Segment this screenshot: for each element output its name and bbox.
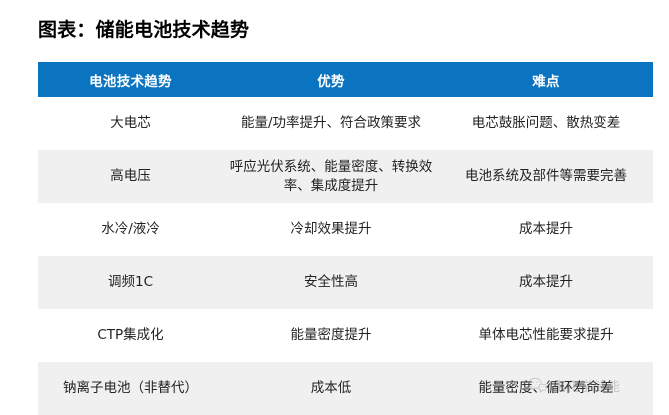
cell-trend: 大电芯 xyxy=(38,97,223,150)
cell-advantage: 能量密度提升 xyxy=(223,309,439,362)
page-title: 图表：储能电池技术趋势 xyxy=(38,17,249,43)
table-row: 调频1C 安全性高 成本提升 xyxy=(38,256,653,309)
cell-difficulty: 成本提升 xyxy=(439,256,653,309)
cell-trend: 高电压 xyxy=(38,150,223,203)
cell-advantage: 能量/功率提升、符合政策要求 xyxy=(223,97,439,150)
table-row: 高电压 呼应光伏系统、能量密度、转换效率、集成度提升 电池系统及部件等需要完善 xyxy=(38,150,653,203)
cell-advantage: 冷却效果提升 xyxy=(223,203,439,256)
table-row: 钠离子电池（非替代） 成本低 能量密度、循环寿命差 xyxy=(38,362,653,415)
cell-trend: CTP集成化 xyxy=(38,309,223,362)
table-row: 大电芯 能量/功率提升、符合政策要求 电芯鼓胀问题、散热变差 xyxy=(38,97,653,150)
table-body: 大电芯 能量/功率提升、符合政策要求 电芯鼓胀问题、散热变差 高电压 呼应光伏系… xyxy=(38,97,653,415)
battery-technology-trend-table: 电池技术趋势 优势 难点 大电芯 能量/功率提升、符合政策要求 电芯鼓胀问题、散… xyxy=(38,62,653,415)
cell-difficulty: 电池系统及部件等需要完善 xyxy=(439,150,653,203)
cell-trend: 钠离子电池（非替代） xyxy=(38,362,223,415)
cell-difficulty: 成本提升 xyxy=(439,203,653,256)
table-row: CTP集成化 能量密度提升 单体电芯性能要求提升 xyxy=(38,309,653,362)
column-header-difficulty: 难点 xyxy=(439,62,653,97)
cell-advantage: 安全性高 xyxy=(223,256,439,309)
column-header-trend: 电池技术趋势 xyxy=(38,62,223,97)
table-header-row: 电池技术趋势 优势 难点 xyxy=(38,62,653,97)
column-header-advantage: 优势 xyxy=(223,62,439,97)
cell-trend: 调频1C xyxy=(38,256,223,309)
cell-difficulty: 能量密度、循环寿命差 xyxy=(439,362,653,415)
cell-difficulty: 单体电芯性能要求提升 xyxy=(439,309,653,362)
cell-trend: 水冷/液冷 xyxy=(38,203,223,256)
table-row: 水冷/液冷 冷却效果提升 成本提升 xyxy=(38,203,653,256)
cell-advantage: 成本低 xyxy=(223,362,439,415)
cell-advantage: 呼应光伏系统、能量密度、转换效率、集成度提升 xyxy=(223,150,439,203)
cell-difficulty: 电芯鼓胀问题、散热变差 xyxy=(439,97,653,150)
